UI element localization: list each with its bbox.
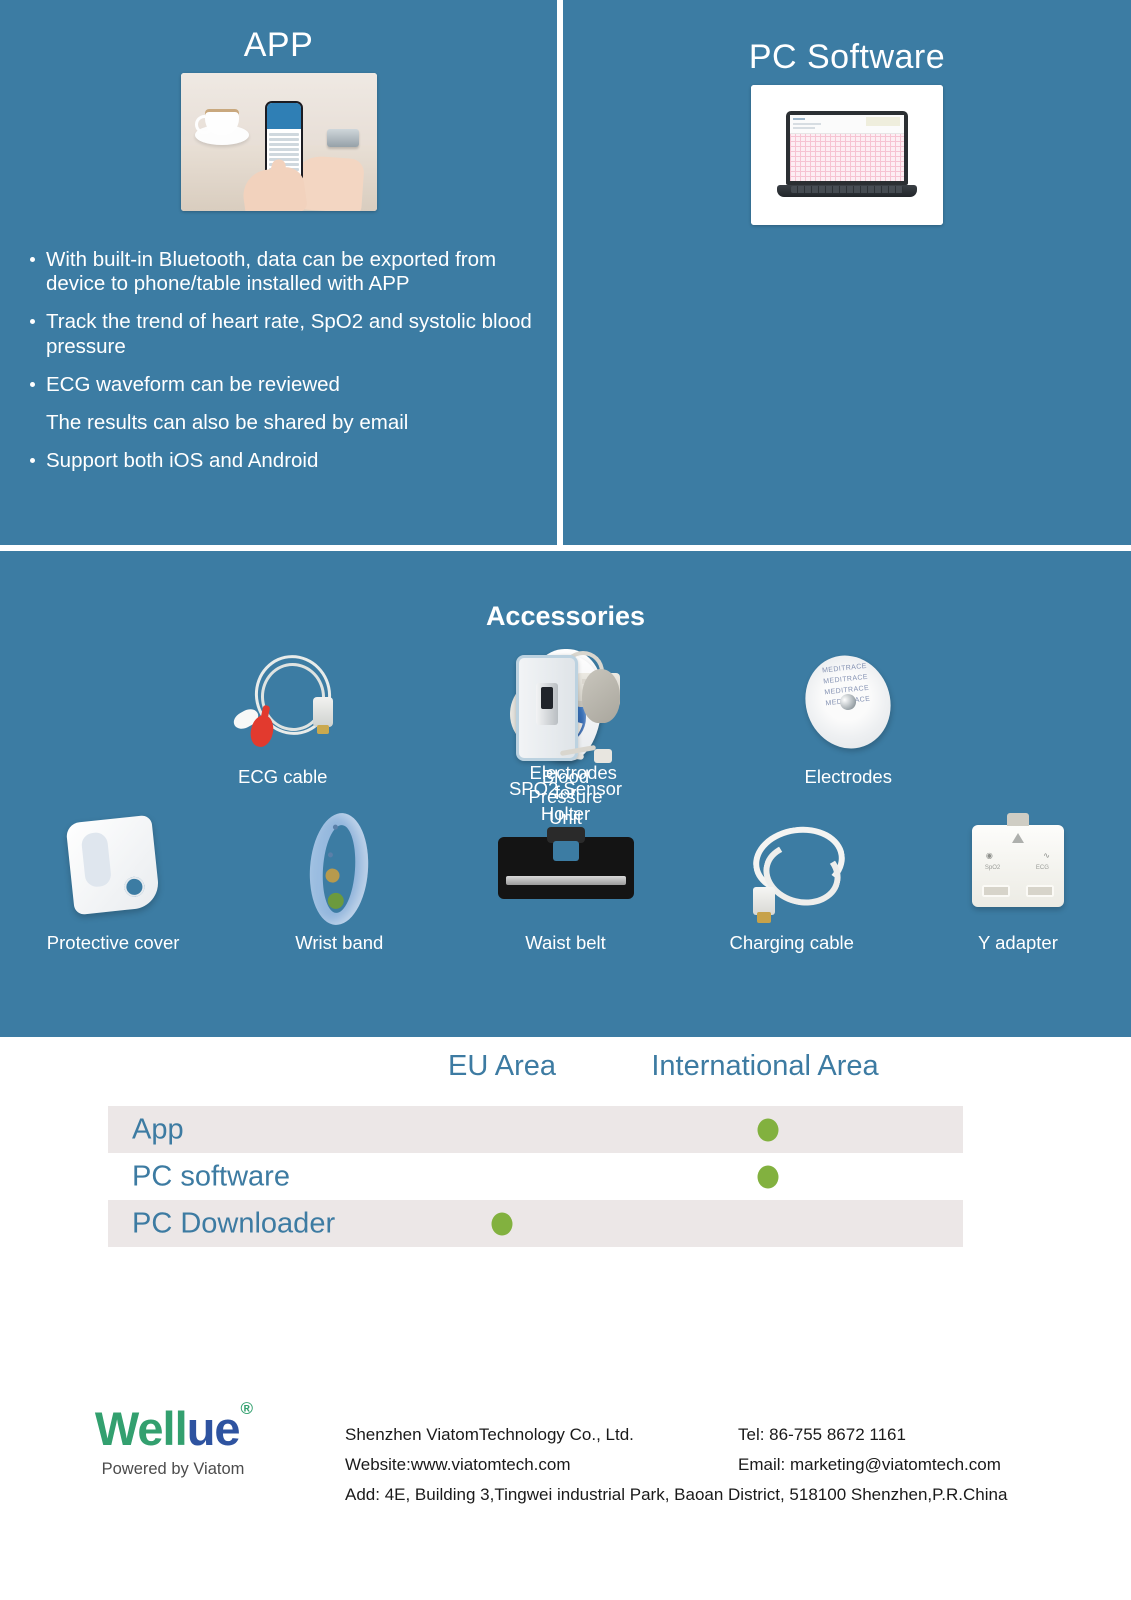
pc-photo-scene [751,85,943,225]
column-header-international-area: International Area [620,1050,910,1083]
contact-line-2: Website:www.viatomtech.com Email: market… [345,1449,1085,1479]
app-panel: APP [0,0,557,545]
app-bullet-list: With built-in Bluetooth, data can be exp… [22,248,542,487]
report-header [790,115,904,134]
accessories-row-1: ECG cable MEDITRACE MEDITRACE MEDITRACE … [0,643,1131,787]
table-row: PC Downloader [108,1200,963,1247]
column-header-eu-area: EU Area [437,1050,567,1083]
app-photo-scene [181,73,377,211]
accessory-charging-cable: Charging cable [679,809,905,953]
ecg-cable-icon [0,643,566,763]
poster-page: APP [0,0,1131,1600]
website[interactable]: Website:www.viatomtech.com [345,1449,570,1481]
logo-text-blue: ue [187,1402,240,1455]
accessory-label: Wrist band [226,933,452,953]
waist-belt-icon [452,809,678,929]
blood-pressure-unit-icon [510,645,622,765]
availability-body: App PC software PC Downloader [0,1106,1131,1247]
accessory-label: Charging cable [679,933,905,953]
app-bullet-2: Track the trend of heart rate, SpO2 and … [22,310,542,358]
laptop-shape [786,111,908,197]
accessories-row-2: Protective cover Wrist band Waist belt C… [0,809,1131,953]
logo-wordmark: Wellue® [95,1405,251,1452]
availability-dot-international [758,1165,779,1188]
address: Add: 4E, Building 3,Tingwei industrial P… [345,1479,1007,1511]
accessory-label: Protective cover [0,933,226,953]
contact-line-1: Shenzhen ViatomTechnology Co., Ltd. Tel:… [345,1419,1085,1449]
contact-block: Shenzhen ViatomTechnology Co., Ltd. Tel:… [345,1419,1085,1509]
email[interactable]: Email: marketing@viatomtech.com [738,1449,1001,1481]
contact-line-3: Add: 4E, Building 3,Tingwei industrial P… [345,1479,1085,1509]
charging-cable-icon [679,809,905,929]
row-label-pc-downloader: PC Downloader [132,1207,335,1240]
laptop-lid [786,111,908,185]
logo-text-green: Well [95,1402,187,1455]
laptop-base [777,185,917,197]
y-adapter-icon: ◉∿ SpO2ECG [905,809,1131,929]
accessory-label: Y adapter [905,933,1131,953]
row-label-app: App [132,1113,184,1146]
pc-photo [751,85,943,225]
app-bullet-3: ECG waveform can be reviewed [22,373,542,397]
accessory-wrist-band: Wrist band [226,809,452,953]
row-label-pc-software: PC software [132,1160,290,1193]
phone-app-header [267,103,301,129]
top-blue-band: APP [0,0,1131,545]
accessory-waist-belt: Waist belt [452,809,678,953]
accessory-label: ECG cable [0,767,566,787]
laptop-keyboard [791,186,903,193]
checkme-device-shape [327,129,359,147]
app-photo [181,73,377,211]
table-row: App [108,1106,963,1153]
electrodes-icon: MEDITRACE MEDITRACE MEDITRACE MEDITRACE [566,643,1131,763]
availability-header-row: EU Area International Area [0,1050,1131,1094]
wellue-logo: Wellue® Powered by Viatom [78,1405,268,1479]
accessory-electrodes: MEDITRACE MEDITRACE MEDITRACE MEDITRACE … [566,643,1131,787]
availability-dot-international [758,1118,779,1141]
app-bullet-1: With built-in Bluetooth, data can be exp… [22,248,542,296]
protective-cover-icon [0,809,226,929]
accessory-ecg-cable: ECG cable [0,643,566,787]
pc-panel-title: PC Software [563,38,1131,77]
accessory-label: Electrodes [566,767,1131,787]
wrist-band-icon [226,809,452,929]
accessories-section: Accessories ECG cable MEDITRACE MEDITRAC… [0,551,1131,1037]
availability-dot-eu [492,1212,513,1235]
registered-trademark-icon: ® [241,1399,253,1418]
availability-table: EU Area International Area App PC softwa… [0,1050,1131,1247]
accessories-title: Accessories [0,601,1131,632]
laptop-screen [790,115,904,181]
telephone: Tel: 86-755 8672 1161 [738,1419,906,1451]
table-row: PC software [108,1153,963,1200]
app-bullet-4: The results can also be shared by email [22,411,542,435]
accessory-y-adapter: ◉∿ SpO2ECG Y adapter [905,809,1131,953]
accessory-label: Waist belt [452,933,678,953]
accessory-blood-pressure-unit: Blood Pressure Unit [510,645,622,761]
ecg-grid-graphic [790,134,904,181]
accessory-protective-cover: Protective cover [0,809,226,953]
company-name: Shenzhen ViatomTechnology Co., Ltd. [345,1419,634,1451]
coffee-cup-shape [205,109,239,135]
pc-software-panel: PC Software [563,0,1131,545]
app-panel-title: APP [0,26,557,65]
app-bullet-5: Support both iOS and Android [22,449,542,473]
logo-tagline: Powered by Viatom [78,1460,268,1479]
